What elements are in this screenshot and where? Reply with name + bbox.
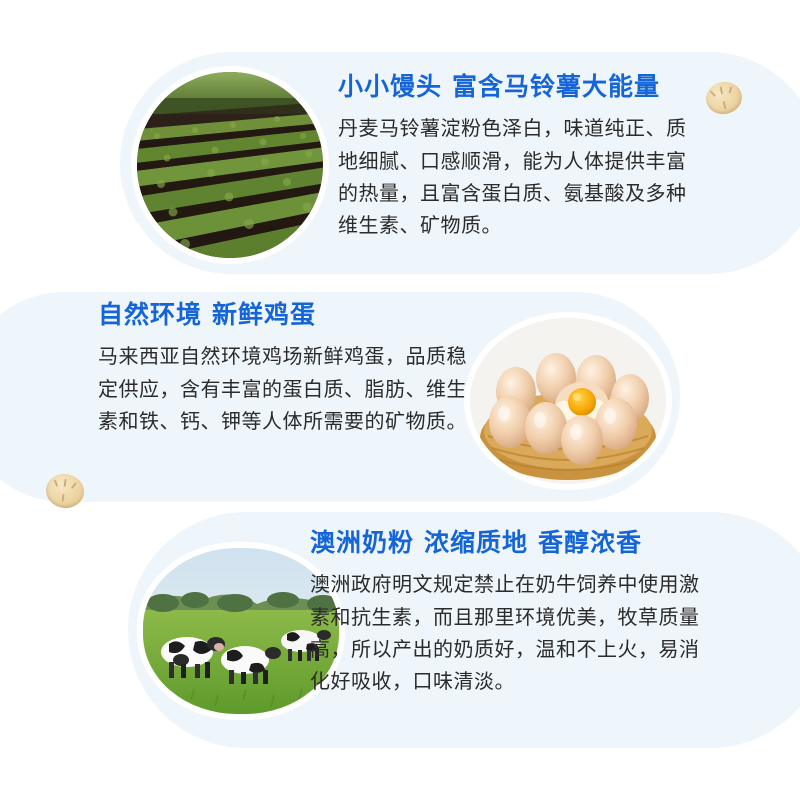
potato-headline-part2: 富含马铃薯大能量: [452, 73, 660, 101]
potato-headline: 小小馒头富含马铃薯大能量: [338, 72, 698, 103]
egg-headline-part2: 新鲜鸡蛋: [212, 301, 316, 329]
egg-body-text: 马来西亚自然环境鸡场新鲜鸡蛋，品质稳定供应，含有丰富的蛋白质、脂肪、维生素和铁、…: [98, 341, 478, 438]
egg-headline: 自然环境新鲜鸡蛋: [98, 300, 478, 331]
product-feature-poster: 小小馒头富含马铃薯大能量 丹麦马铃薯淀粉色泽白，味道纯正、质地细腻、口感顺滑，能…: [0, 0, 800, 800]
milk-headline: 澳洲奶粉浓缩质地香醇浓香: [310, 528, 710, 559]
feature-block-milk: 澳洲奶粉浓缩质地香醇浓香 澳洲政府明文规定禁止在奶牛饲养中使用激素和抗生素，而且…: [310, 528, 710, 699]
feature-block-potato: 小小馒头富含马铃薯大能量 丹麦马铃薯淀粉色泽白，味道纯正、质地细腻、口感顺滑，能…: [338, 72, 698, 243]
potato-headline-part1: 小小馒头: [338, 73, 442, 101]
milk-headline-part1: 澳洲奶粉: [310, 529, 414, 557]
milk-body-text: 澳洲政府明文规定禁止在奶牛饲养中使用激素和抗生素，而且那里环境优美，牧草质量高，…: [310, 569, 710, 699]
feature-block-egg: 自然环境新鲜鸡蛋 马来西亚自然环境鸡场新鲜鸡蛋，品质稳定供应，含有丰富的蛋白质、…: [98, 300, 478, 438]
milk-headline-part2: 浓缩质地: [424, 529, 528, 557]
potato-field-photo: [137, 72, 323, 258]
egg-headline-part1: 自然环境: [98, 301, 202, 329]
milk-headline-part3: 香醇浓香: [538, 529, 642, 557]
potato-body-text: 丹麦马铃薯淀粉色泽白，味道纯正、质地细腻、口感顺滑，能为人体提供丰富的热量，且富…: [338, 113, 698, 243]
eggs-basket-photo: [470, 318, 666, 484]
